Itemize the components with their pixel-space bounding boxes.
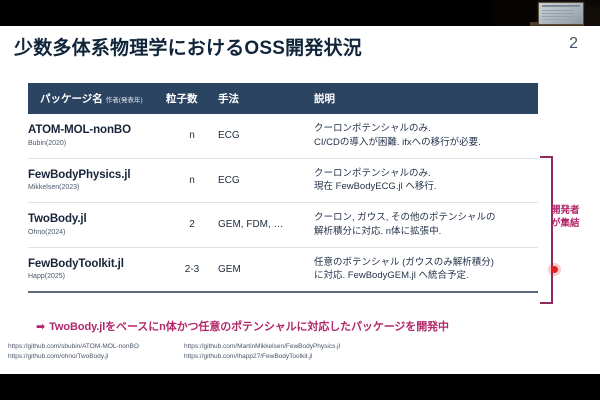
column-header-method: 手法 — [218, 83, 314, 114]
bracket-annotation-line-2: が集結 — [551, 218, 595, 231]
cell-description: クーロンポテンシャルのみ. CI/CDの導入が困難. ifxへの移行が必要. — [314, 114, 538, 158]
cursor-pointer-dot — [551, 266, 558, 273]
webcam-video-feed[interactable] — [492, 0, 600, 26]
description-line-1: クーロンポテンシャルのみ. — [314, 122, 538, 136]
right-arrow-icon: ➡ — [36, 321, 45, 333]
bracket-annotation-label: 開発者 が集結 — [551, 205, 595, 231]
column-header-package-sublabel: 作者(発表年) — [106, 97, 143, 104]
description-line-2: 解析積分に対応. n体に拡張中. — [314, 225, 538, 239]
cell-method: ECG — [218, 158, 314, 203]
column-header-package: パッケージ名作者(発表年) — [28, 83, 166, 114]
description-line-1: クーロン, ガウス, その他のポテンシャルの — [314, 211, 538, 225]
package-author: Mikkelsen(2023) — [28, 184, 166, 192]
column-header-particles: 粒子数 — [166, 83, 218, 114]
cell-method: GEM — [218, 247, 314, 292]
table-row[interactable]: FewBodyPhysics.jl Mikkelsen(2023) n ECG … — [28, 158, 538, 203]
packages-table: パッケージ名作者(発表年) 粒子数 手法 説明 ATOM-MOL-nonBO B… — [28, 83, 538, 293]
cell-package: FewBodyPhysics.jl Mikkelsen(2023) — [28, 158, 166, 203]
conclusion-text: TwoBody.jlをベースにn体かつ任意のポテンシャルに対応したパッケージを開… — [49, 321, 449, 333]
footer-url-column-right: https://github.com/MartinMikkelsen/FewBo… — [184, 342, 340, 362]
footer-url-link[interactable]: https://github.com/MartinMikkelsen/FewBo… — [184, 342, 340, 352]
description-line-2: 現在 FewBodyECG.jl へ移行. — [314, 180, 538, 194]
slide-page-number: 2 — [569, 35, 578, 53]
footer-url-link[interactable]: https://github.com/ohno/TwoBody.jl — [8, 352, 184, 362]
description-line-1: 任意のポテンシャル (ガウスのみ解析積分) — [314, 256, 538, 270]
video-bottom-bar — [0, 374, 600, 400]
video-top-bar — [0, 0, 600, 26]
description-line-1: クーロンポテンシャルのみ. — [314, 167, 538, 181]
webcam-monitor-screen — [538, 2, 584, 25]
conclusion-statement: ➡TwoBody.jlをベースにn体かつ任意のポテンシャルに対応したパッケージを… — [36, 318, 449, 334]
cell-particles: n — [166, 158, 218, 203]
cell-particles: n — [166, 114, 218, 158]
table-header-row: パッケージ名作者(発表年) 粒子数 手法 説明 — [28, 83, 538, 114]
package-name: TwoBody.jl — [28, 213, 166, 226]
bracket-annotation-line-1: 開発者 — [551, 205, 595, 218]
table-body: ATOM-MOL-nonBO Bubin(2020) n ECG クーロンポテン… — [28, 114, 538, 292]
package-author: Ohno(2024) — [28, 229, 166, 237]
package-name: FewBodyToolkit.jl — [28, 258, 166, 271]
package-author: Bubin(2020) — [28, 140, 166, 148]
cell-description: クーロン, ガウス, その他のポテンシャルの 解析積分に対応. n体に拡張中. — [314, 203, 538, 248]
cell-package: TwoBody.jl Ohno(2024) — [28, 203, 166, 248]
cell-package: FewBodyToolkit.jl Happ(2025) — [28, 247, 166, 292]
description-line-2: に対応. FewBodyGEM.jl へ統合予定. — [314, 269, 538, 283]
webcam-person-silhouette — [584, 6, 600, 26]
cell-particles: 2-3 — [166, 247, 218, 292]
footer-url-column-left: https://github.com/sbubin/ATOM-MOL-nonBO… — [8, 342, 184, 362]
footer-url-link[interactable]: https://github.com/lhapp27/FewBodyToolki… — [184, 352, 340, 362]
cell-description: 任意のポテンシャル (ガウスのみ解析積分) に対応. FewBodyGEM.jl… — [314, 247, 538, 292]
table-row[interactable]: TwoBody.jl Ohno(2024) 2 GEM, FDM, … クーロン… — [28, 203, 538, 248]
cell-particles: 2 — [166, 203, 218, 248]
table-row[interactable]: ATOM-MOL-nonBO Bubin(2020) n ECG クーロンポテン… — [28, 114, 538, 158]
cell-description: クーロンポテンシャルのみ. 現在 FewBodyECG.jl へ移行. — [314, 158, 538, 203]
cell-method: ECG — [218, 114, 314, 158]
footer-url-link[interactable]: https://github.com/sbubin/ATOM-MOL-nonBO — [8, 342, 184, 352]
column-header-package-label: パッケージ名 — [40, 93, 103, 105]
package-name: FewBodyPhysics.jl — [28, 169, 166, 182]
description-line-2: CI/CDの導入が困難. ifxへの移行が必要. — [314, 136, 538, 150]
footer-urls: https://github.com/sbubin/ATOM-MOL-nonBO… — [8, 342, 340, 362]
table-header: パッケージ名作者(発表年) 粒子数 手法 説明 — [28, 83, 538, 114]
packages-table-wrapper: パッケージ名作者(発表年) 粒子数 手法 説明 ATOM-MOL-nonBO B… — [28, 83, 526, 293]
cell-package: ATOM-MOL-nonBO Bubin(2020) — [28, 114, 166, 158]
table-row[interactable]: FewBodyToolkit.jl Happ(2025) 2-3 GEM 任意の… — [28, 247, 538, 292]
cell-method: GEM, FDM, … — [218, 203, 314, 248]
slide-title: 少数多体系物理学におけるOSS開発状況 — [14, 33, 362, 60]
package-name: ATOM-MOL-nonBO — [28, 124, 166, 137]
column-header-description: 説明 — [314, 83, 538, 114]
presentation-slide: 少数多体系物理学におけるOSS開発状況 2 パッケージ名作者(発表年) 粒子数 … — [0, 26, 600, 374]
package-author: Happ(2025) — [28, 273, 166, 281]
